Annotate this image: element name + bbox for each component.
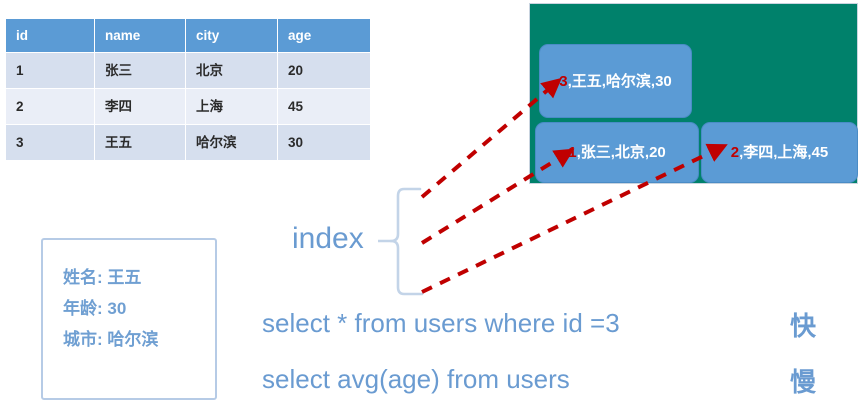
index-node-rest: ,王五,哈尔滨 xyxy=(568,73,651,90)
cell-id: 1 xyxy=(6,53,95,89)
detail-city-line: 城市: 哈尔滨 xyxy=(63,324,158,355)
index-node-right: 2,李四,上海,45 xyxy=(701,122,858,183)
index-node-rest: ,张三,北京 xyxy=(577,144,645,161)
cell-age: 20 xyxy=(278,53,371,89)
table-header-row: id name city age xyxy=(6,19,371,53)
index-node-rest2: ,30 xyxy=(651,73,672,90)
curly-brace-icon xyxy=(378,186,424,298)
table-row: 1 张三 北京 20 xyxy=(6,53,371,89)
index-structure-panel: 3,王五,哈尔滨,30 1,张三,北京,20 2,李四,上海,45 xyxy=(529,3,858,184)
cell-name: 王五 xyxy=(95,125,186,161)
detail-age-line: 年龄: 30 xyxy=(63,293,158,324)
cell-name: 张三 xyxy=(95,53,186,89)
table-row: 3 王五 哈尔滨 30 xyxy=(6,125,371,161)
index-node-text: 2,李四,上海,45 xyxy=(731,142,829,163)
index-node-key: 2 xyxy=(731,144,739,161)
users-table: id name city age 1 张三 北京 20 2 李四 上海 45 3… xyxy=(5,18,371,161)
cell-age: 30 xyxy=(278,125,371,161)
record-detail-lines: 姓名: 王五 年龄: 30 城市: 哈尔滨 xyxy=(63,262,158,355)
cell-city: 北京 xyxy=(186,53,278,89)
index-node-rest2: ,20 xyxy=(645,144,666,161)
index-label: index xyxy=(292,222,364,256)
index-node-rest: ,李四,上海 xyxy=(739,144,807,161)
index-node-left: 1,张三,北京,20 xyxy=(535,122,699,183)
index-node-text: 3,王五,哈尔滨,30 xyxy=(559,71,672,92)
column-header-age: age xyxy=(278,19,371,53)
index-node-root: 3,王五,哈尔滨,30 xyxy=(539,44,692,118)
index-node-text: 1,张三,北京,20 xyxy=(568,142,666,163)
index-node-key: 1 xyxy=(568,144,576,161)
sql-speed-fast-label: 快 xyxy=(790,306,816,343)
column-header-city: city xyxy=(186,19,278,53)
column-header-name: name xyxy=(95,19,186,53)
detail-name-line: 姓名: 王五 xyxy=(63,262,158,293)
cell-id: 3 xyxy=(6,125,95,161)
column-header-id: id xyxy=(6,19,95,53)
table-row: 2 李四 上海 45 xyxy=(6,89,371,125)
sql-query-fast: select * from users where id =3 xyxy=(262,308,620,339)
cell-age: 45 xyxy=(278,89,371,125)
cell-id: 2 xyxy=(6,89,95,125)
cell-city: 哈尔滨 xyxy=(186,125,278,161)
record-detail-card: 姓名: 王五 年龄: 30 城市: 哈尔滨 xyxy=(41,238,217,400)
index-node-rest2: ,45 xyxy=(807,144,828,161)
sql-speed-slow-label: 慢 xyxy=(790,362,816,399)
index-node-key: 3 xyxy=(559,73,567,90)
cell-city: 上海 xyxy=(186,89,278,125)
cell-name: 李四 xyxy=(95,89,186,125)
sql-query-slow: select avg(age) from users xyxy=(262,364,570,395)
